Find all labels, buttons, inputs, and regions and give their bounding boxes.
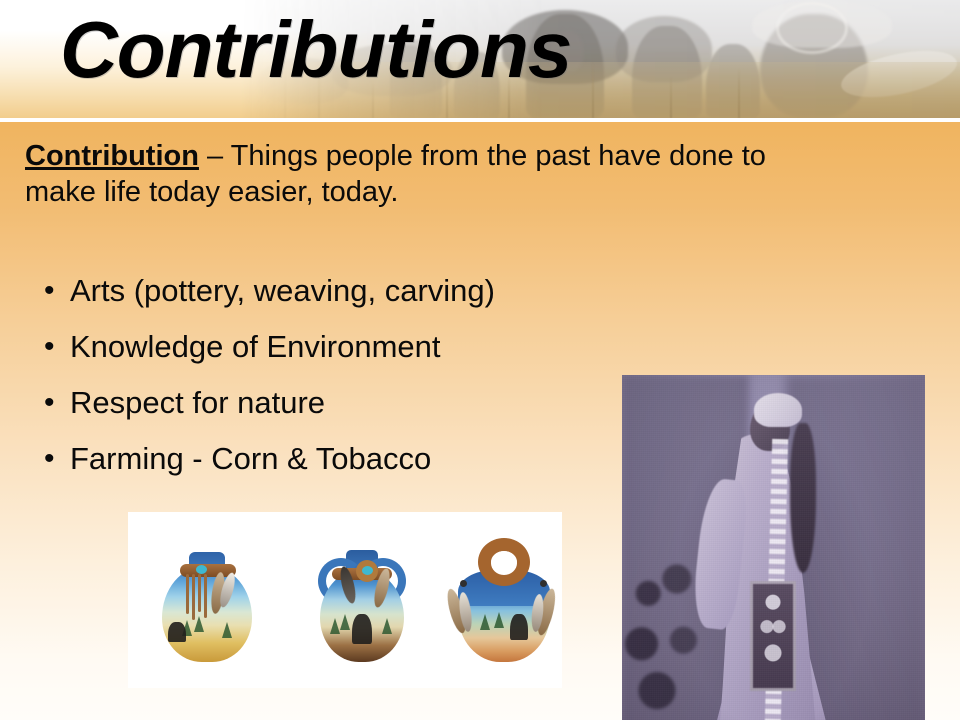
- vase-leather-thong: [198, 574, 201, 612]
- list-item: • Farming - Corn & Tobacco: [44, 440, 644, 478]
- vase-leather-thong: [186, 574, 189, 614]
- vase-handle-hole: [491, 551, 517, 575]
- header-photo-grass: [670, 76, 672, 118]
- native-woman-photo: [622, 375, 925, 720]
- list-item-label: Respect for nature: [70, 384, 325, 422]
- definition-text: Contribution – Things people from the pa…: [25, 138, 815, 210]
- pottery-vase-3: [448, 536, 560, 662]
- vase-turquoise-bead: [362, 566, 373, 575]
- vase-wolf-motif: [352, 614, 372, 644]
- slide: Contributions Contribution – Things peop…: [0, 0, 960, 720]
- vase-tree-motif: [330, 618, 340, 634]
- list-item-label: Knowledge of Environment: [70, 328, 441, 366]
- vase-turquoise-bead: [196, 565, 207, 574]
- bullet-icon: •: [44, 384, 70, 422]
- header-photo-grass: [592, 62, 594, 118]
- vase-tree-motif: [480, 614, 490, 630]
- list-item-label: Farming - Corn & Tobacco: [70, 440, 431, 478]
- vase-leather-thong: [204, 574, 207, 618]
- list-item: • Arts (pottery, weaving, carving): [44, 272, 644, 310]
- bullet-icon: •: [44, 328, 70, 366]
- page-title: Contributions: [60, 5, 571, 95]
- list-item: • Knowledge of Environment: [44, 328, 644, 366]
- bullet-icon: •: [44, 272, 70, 310]
- pottery-vase-2: [308, 546, 416, 662]
- slide-header: Contributions: [0, 0, 960, 118]
- vase-wolf-motif: [168, 622, 186, 642]
- vase-body: [162, 566, 252, 662]
- vase-tree-motif: [194, 616, 204, 632]
- pottery-image: [128, 512, 562, 688]
- vase-tree-motif: [340, 614, 350, 630]
- vase-bead: [540, 580, 547, 587]
- photo-vignette: [622, 375, 925, 720]
- vase-tree-motif: [222, 622, 232, 638]
- bullet-icon: •: [44, 440, 70, 478]
- list-item-label: Arts (pottery, weaving, carving): [70, 272, 495, 310]
- header-photo-grass: [738, 68, 740, 118]
- vase-leather-thong: [192, 574, 195, 620]
- vase-wolf-motif: [510, 614, 528, 640]
- vase-tree-motif: [494, 612, 504, 628]
- slide-body: Contribution – Things people from the pa…: [0, 122, 960, 720]
- list-item: • Respect for nature: [44, 384, 644, 422]
- vase-bead: [460, 580, 467, 587]
- vase-tree-motif: [382, 618, 392, 634]
- pottery-vase-1: [158, 550, 256, 662]
- definition-term: Contribution: [25, 140, 199, 172]
- header-photo-halo: [776, 2, 848, 54]
- bullet-list: • Arts (pottery, weaving, carving) • Kno…: [44, 272, 644, 496]
